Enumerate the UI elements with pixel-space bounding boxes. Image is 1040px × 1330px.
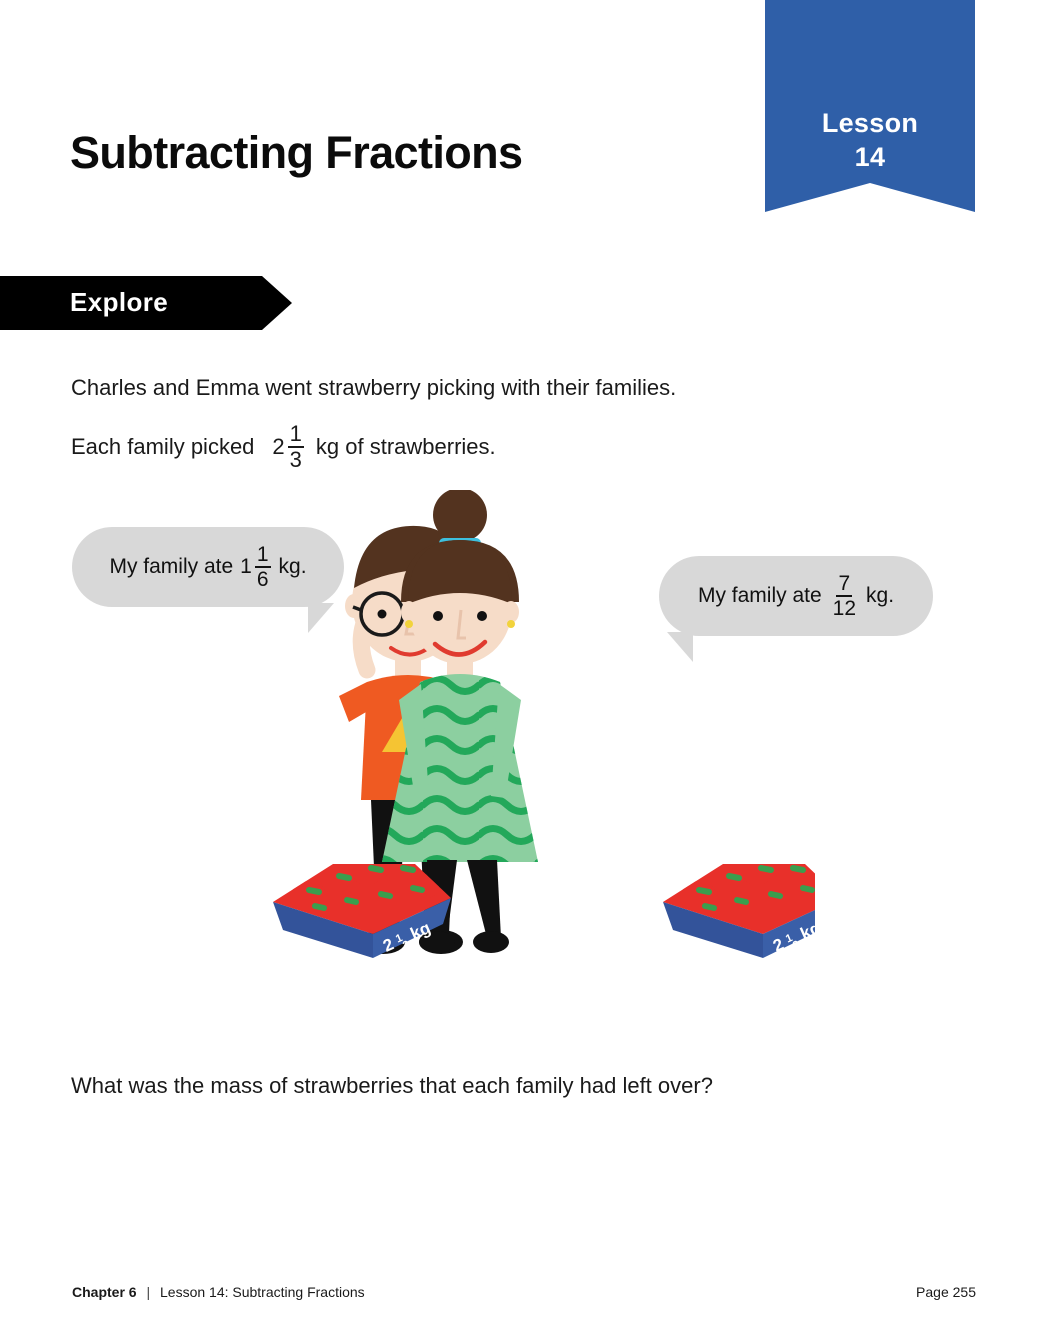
speech-girl-fraction: 7 12 (833, 573, 856, 619)
explore-section-tag: Explore (0, 276, 292, 330)
strawberry-basket-right: 2 1 3 kg (663, 858, 815, 960)
lesson-number: 14 (765, 140, 975, 174)
picked-amount-fraction: 2 1 3 (272, 423, 306, 471)
lesson-word: Lesson (765, 106, 975, 140)
lesson-ribbon-text: Lesson 14 (765, 106, 975, 174)
girl-earring-left (405, 620, 413, 628)
intro-line-2: Each family picked 2 1 3 kg of strawberr… (71, 423, 496, 471)
page-title: Subtracting Fractions (70, 127, 522, 179)
picked-whole: 2 (272, 434, 284, 460)
girl-eye-left (433, 611, 443, 621)
speech-girl-numerator: 7 (836, 573, 852, 597)
textbook-page: Lesson 14 Subtracting Fractions Explore … (0, 0, 1040, 1330)
footer-page-number: Page 255 (916, 1284, 976, 1300)
intro-line-2-after: kg of strawberries. (316, 434, 496, 460)
girl-ear-right (503, 601, 519, 623)
girl-hair-bun (433, 490, 487, 542)
closing-question: What was the mass of strawberries that e… (71, 1073, 713, 1099)
picked-numerator: 1 (288, 423, 304, 448)
boy-eye-left (378, 610, 387, 619)
girl-shoe-right (473, 931, 509, 953)
speech-boy-before: My family ate (109, 555, 233, 579)
intro-line-2-before: Each family picked (71, 434, 254, 460)
girl-eye-right (477, 611, 487, 621)
footer-chapter: Chapter 6 (72, 1284, 137, 1300)
girl-earring-right (507, 620, 515, 628)
speech-girl-after: kg. (866, 584, 894, 608)
girl-leg-right (467, 860, 501, 938)
picked-denominator: 3 (290, 448, 302, 471)
strawberry-picking-illustration: 2 1 3 kg 2 1 (255, 490, 815, 980)
speech-girl-denominator: 12 (833, 597, 856, 619)
girl-ear-left (401, 601, 417, 623)
explore-tag-label: Explore (70, 287, 168, 318)
footer-separator: | (146, 1284, 150, 1300)
intro-line-1: Charles and Emma went strawberry picking… (71, 375, 676, 401)
footer-left: Chapter 6 | Lesson 14: Subtracting Fract… (72, 1284, 365, 1300)
footer-lesson: Lesson 14: Subtracting Fractions (160, 1284, 365, 1300)
speech-boy-whole: 1 (240, 555, 252, 579)
lesson-ribbon: Lesson 14 (765, 0, 975, 212)
